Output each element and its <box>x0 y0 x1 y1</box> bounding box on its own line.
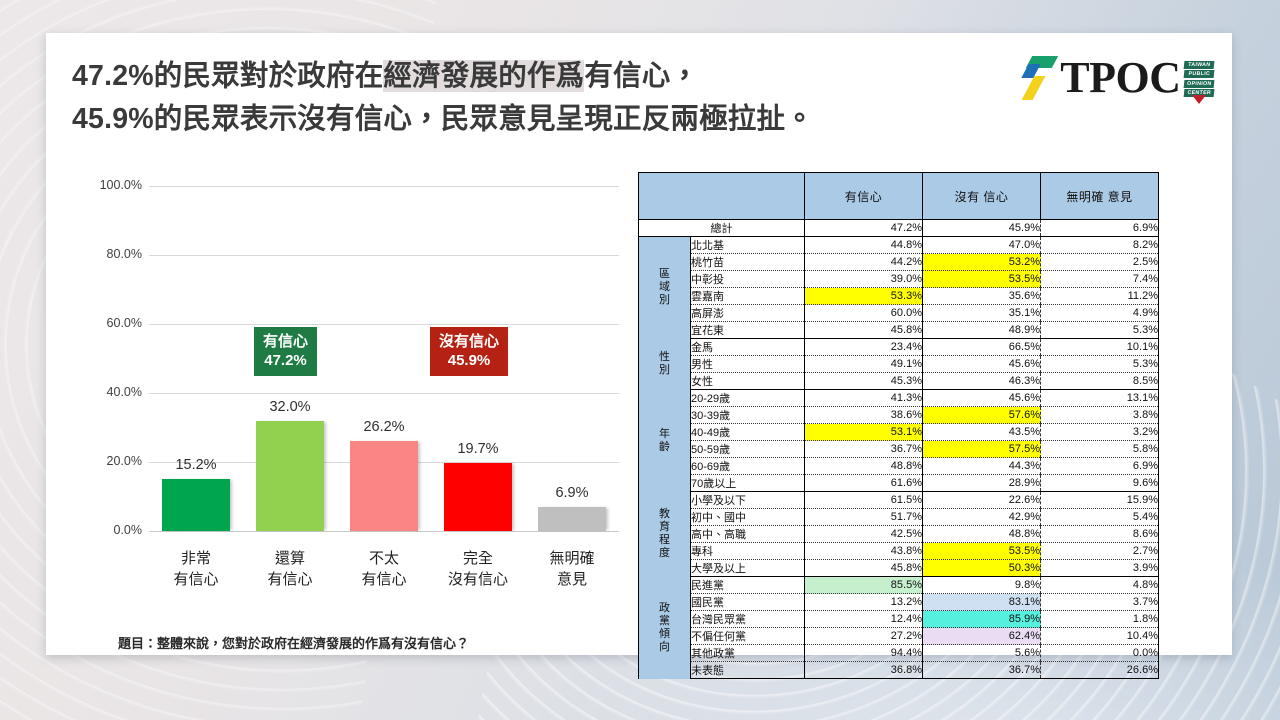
cell-value: 45.6% <box>923 356 1041 373</box>
cell-value: 46.3% <box>923 373 1041 390</box>
y-tick-label: 80.0% <box>62 247 142 261</box>
row-label: 高屏澎 <box>691 305 805 322</box>
y-tick-label: 60.0% <box>62 316 142 330</box>
cell-value: 11.2% <box>1041 288 1159 305</box>
cell-value: 49.1% <box>805 356 923 373</box>
table-row: 教育程度小學及以下61.5%22.6%15.9% <box>639 492 1159 509</box>
table-row: 其他政黨94.4%5.6%0.0% <box>639 645 1159 662</box>
cell-value: 38.6% <box>805 407 923 424</box>
cell-value: 66.5% <box>923 339 1041 356</box>
bar-column[interactable]: 26.2% <box>337 186 431 531</box>
group-label-政黨傾向: 政黨傾向 <box>639 577 691 679</box>
cell-total-1: 47.2% <box>805 220 923 237</box>
cell-value: 57.6% <box>923 407 1041 424</box>
table-header-not-confident: 沒有 信心 <box>923 173 1041 220</box>
cell-value: 53.5% <box>923 543 1041 560</box>
table-row: 專科43.8%53.5%2.7% <box>639 543 1159 560</box>
cell-value: 8.6% <box>1041 526 1159 543</box>
slide-card: 47.2%的民眾對於政府在經濟發展的作爲有信心， 45.9%的民眾表示沒有信心，… <box>46 33 1232 655</box>
cell-value: 43.5% <box>923 424 1041 441</box>
cell-value: 51.7% <box>805 509 923 526</box>
row-label: 初中、國中 <box>691 509 805 526</box>
bar-chart: 0.0%20.0%40.0%60.0%80.0%100.0% 15.2%32.0… <box>64 173 644 593</box>
cell-value: 10.1% <box>1041 339 1159 356</box>
logo-badge: TAIWAN PUBLIC OPINION CENTER <box>1184 61 1214 98</box>
cell-value: 62.4% <box>923 628 1041 645</box>
cell-value: 26.6% <box>1041 662 1159 679</box>
bar-4[interactable] <box>444 463 512 531</box>
cell-value: 5.4% <box>1041 509 1159 526</box>
table-row: 雲嘉南53.3%35.6%11.2% <box>639 288 1159 305</box>
row-label: 高中、高職 <box>691 526 805 543</box>
headline-line1-pre: 47.2%的民眾對於政府在 <box>72 60 383 92</box>
cell-value: 9.8% <box>923 577 1041 594</box>
bar-value-label: 19.7% <box>431 441 525 457</box>
cell-value: 61.6% <box>805 475 923 492</box>
table-row: 政黨傾向民進黨85.5%9.8%4.8% <box>639 577 1159 594</box>
logo-wordmark: TPOC <box>1060 55 1180 101</box>
group-label-性別: 性別 <box>639 339 691 390</box>
table-row: 桃竹苗44.2%53.2%2.5% <box>639 254 1159 271</box>
group-label-教育程度: 教育程度 <box>639 492 691 577</box>
bar-value-label: 6.9% <box>525 485 619 501</box>
row-label: 30-39歲 <box>691 407 805 424</box>
table-row: 性別金馬23.4%66.5%10.1% <box>639 339 1159 356</box>
cell-value: 53.5% <box>923 271 1041 288</box>
x-axis-label: 還算有信心 <box>243 548 337 590</box>
cell-value: 53.2% <box>923 254 1041 271</box>
x-axis-label: 無明確意見 <box>525 548 619 590</box>
cell-value: 50.3% <box>923 560 1041 577</box>
cell-total-2: 45.9% <box>923 220 1041 237</box>
row-label: 60-69歲 <box>691 458 805 475</box>
cell-value: 41.3% <box>805 390 923 407</box>
crosstab-table: 有信心 沒有 信心 無明確 意見 總計47.2%45.9%6.9%區域別北北基4… <box>638 172 1159 679</box>
table-row: 區域別北北基44.8%47.0%8.2% <box>639 237 1159 254</box>
row-label: 70歲以上 <box>691 475 805 492</box>
cell-value: 8.5% <box>1041 373 1159 390</box>
gridline-0 <box>149 531 619 532</box>
table-header-no-opinion: 無明確 意見 <box>1041 173 1159 220</box>
cell-value: 35.6% <box>923 288 1041 305</box>
row-label: 20-29歲 <box>691 390 805 407</box>
cell-value: 85.9% <box>923 611 1041 628</box>
group-label-年齡: 年齡 <box>639 390 691 492</box>
callout-not-confident-title: 沒有信心 <box>439 332 499 351</box>
cell-value: 60.0% <box>805 305 923 322</box>
cell-value: 12.4% <box>805 611 923 628</box>
row-label: 民進黨 <box>691 577 805 594</box>
bar-value-label: 32.0% <box>243 399 337 415</box>
question-text: 題目：整體來說，您對於政府在經濟發展的作爲有沒有信心？ <box>118 633 469 652</box>
cell-value: 45.3% <box>805 373 923 390</box>
cell-value: 3.7% <box>1041 594 1159 611</box>
row-label: 國民黨 <box>691 594 805 611</box>
cell-value: 48.8% <box>805 458 923 475</box>
bar-value-label: 26.2% <box>337 419 431 435</box>
table-row: 40-49歲53.1%43.5%3.2% <box>639 424 1159 441</box>
cell-value: 61.5% <box>805 492 923 509</box>
logo-badge-pointer-icon <box>1192 95 1206 104</box>
cell-value: 28.9% <box>923 475 1041 492</box>
table-row: 中彰投39.0%53.5%7.4% <box>639 271 1159 288</box>
table-row: 女性45.3%46.3%8.5% <box>639 373 1159 390</box>
table-row: 大學及以上45.8%50.3%3.9% <box>639 560 1159 577</box>
row-label: 其他政黨 <box>691 645 805 662</box>
x-axis-label: 完全沒有信心 <box>431 548 525 590</box>
cell-value: 83.1% <box>923 594 1041 611</box>
cell-value: 5.3% <box>1041 356 1159 373</box>
table-row: 60-69歲48.8%44.3%6.9% <box>639 458 1159 475</box>
headline-line1-post: 有信心， <box>584 60 699 92</box>
cell-value: 5.6% <box>923 645 1041 662</box>
cell-value: 13.1% <box>1041 390 1159 407</box>
cell-value: 45.8% <box>805 322 923 339</box>
slide-background: 47.2%的民眾對於政府在經濟發展的作爲有信心， 45.9%的民眾表示沒有信心，… <box>0 0 1280 720</box>
row-label: 中彰投 <box>691 271 805 288</box>
cell-value: 5.3% <box>1041 322 1159 339</box>
cell-value: 0.0% <box>1041 645 1159 662</box>
table-row: 男性49.1%45.6%5.3% <box>639 356 1159 373</box>
row-label: 男性 <box>691 356 805 373</box>
y-tick-label: 20.0% <box>62 454 142 468</box>
bar-column[interactable]: 15.2% <box>149 186 243 531</box>
y-tick-label: 40.0% <box>62 385 142 399</box>
callout-confident-value: 47.2% <box>263 351 308 370</box>
row-label: 女性 <box>691 373 805 390</box>
callout-confident-title: 有信心 <box>263 332 308 351</box>
row-label: 大學及以上 <box>691 560 805 577</box>
bar-value-label: 15.2% <box>149 457 243 473</box>
cell-value: 23.4% <box>805 339 923 356</box>
row-label: 小學及以下 <box>691 492 805 509</box>
cell-value: 53.3% <box>805 288 923 305</box>
table-row: 未表態36.8%36.7%26.6% <box>639 662 1159 679</box>
cell-value: 94.4% <box>805 645 923 662</box>
cell-value: 39.0% <box>805 271 923 288</box>
cell-value: 47.0% <box>923 237 1041 254</box>
row-label: 台灣民眾黨 <box>691 611 805 628</box>
x-axis-label: 非常有信心 <box>149 548 243 590</box>
cell-value: 4.8% <box>1041 577 1159 594</box>
table-row: 高中、高職42.5%48.8%8.6% <box>639 526 1159 543</box>
group-label-區域別: 區域別 <box>639 237 691 339</box>
row-label: 不偏任何黨 <box>691 628 805 645</box>
cell-value: 7.4% <box>1041 271 1159 288</box>
cell-value: 53.1% <box>805 424 923 441</box>
row-label: 未表態 <box>691 662 805 679</box>
cell-value: 22.6% <box>923 492 1041 509</box>
logo-badge-line-3: OPINION <box>1183 80 1214 88</box>
headline-line-2: 45.9%的民眾表示沒有信心，民眾意見呈現正反兩極拉扯。 <box>72 98 1062 141</box>
x-axis-label: 不太有信心 <box>337 548 431 590</box>
cell-value: 45.6% <box>923 390 1041 407</box>
row-label: 桃竹苗 <box>691 254 805 271</box>
callout-not-confident-value: 45.9% <box>439 351 499 370</box>
cell-value: 3.9% <box>1041 560 1159 577</box>
cell-value: 43.8% <box>805 543 923 560</box>
table-header: 有信心 沒有 信心 無明確 意見 <box>639 173 1159 220</box>
bar-column[interactable]: 6.9% <box>525 186 619 531</box>
cell-value: 9.6% <box>1041 475 1159 492</box>
row-label: 專科 <box>691 543 805 560</box>
table-row: 30-39歲38.6%57.6%3.8% <box>639 407 1159 424</box>
cell-value: 35.1% <box>923 305 1041 322</box>
cell-value: 44.3% <box>923 458 1041 475</box>
row-label: 宜花東 <box>691 322 805 339</box>
table-row: 宜花東45.8%48.9%5.3% <box>639 322 1159 339</box>
cell-value: 6.9% <box>1041 458 1159 475</box>
bar-3[interactable] <box>350 441 418 531</box>
cell-value: 3.8% <box>1041 407 1159 424</box>
cell-value: 13.2% <box>805 594 923 611</box>
y-tick-label: 100.0% <box>62 178 142 192</box>
cell-value: 3.2% <box>1041 424 1159 441</box>
cell-value: 42.9% <box>923 509 1041 526</box>
chart-bars: 15.2%32.0%26.2%19.7%6.9% <box>149 186 619 531</box>
bar-5[interactable] <box>538 507 606 531</box>
cell-value: 2.5% <box>1041 254 1159 271</box>
cell-value: 48.9% <box>923 322 1041 339</box>
cell-value: 1.8% <box>1041 611 1159 628</box>
cell-value: 57.5% <box>923 441 1041 458</box>
cell-value: 44.8% <box>805 237 923 254</box>
tpoc-logo: TPOC TAIWAN PUBLIC OPINION CENTER <box>1024 51 1214 105</box>
logo-badge-line-2: PUBLIC <box>1183 70 1214 78</box>
table-row: 70歲以上61.6%28.9%9.6% <box>639 475 1159 492</box>
headline-line-1: 47.2%的民眾對於政府在經濟發展的作爲有信心， <box>72 55 1062 98</box>
bar-2[interactable] <box>256 421 324 531</box>
cell-value: 5.8% <box>1041 441 1159 458</box>
table-row: 國民黨13.2%83.1%3.7% <box>639 594 1159 611</box>
page-title: 47.2%的民眾對於政府在經濟發展的作爲有信心， 45.9%的民眾表示沒有信心，… <box>72 55 1062 141</box>
bar-1[interactable] <box>162 479 230 531</box>
y-tick-label: 0.0% <box>62 523 142 537</box>
table-row-total: 總計47.2%45.9%6.9% <box>639 220 1159 237</box>
cell-value: 8.2% <box>1041 237 1159 254</box>
row-label-total: 總計 <box>639 220 805 237</box>
callout-confident: 有信心47.2% <box>254 327 317 376</box>
chart-plot-area: 15.2%32.0%26.2%19.7%6.9% 非常有信心還算有信心不太有信心… <box>149 186 619 531</box>
row-label: 雲嘉南 <box>691 288 805 305</box>
cell-value: 4.9% <box>1041 305 1159 322</box>
cell-value: 48.8% <box>923 526 1041 543</box>
callout-not-confident: 沒有信心45.9% <box>430 327 508 376</box>
row-label: 50-59歲 <box>691 441 805 458</box>
table-header-corner <box>639 173 805 220</box>
table-row: 不偏任何黨27.2%62.4%10.4% <box>639 628 1159 645</box>
cell-value: 42.5% <box>805 526 923 543</box>
table-row: 年齡20-29歲41.3%45.6%13.1% <box>639 390 1159 407</box>
table-row: 台灣民眾黨12.4%85.9%1.8% <box>639 611 1159 628</box>
crosstab-table-wrapper: 有信心 沒有 信心 無明確 意見 總計47.2%45.9%6.9%區域別北北基4… <box>638 172 1158 679</box>
row-label: 40-49歲 <box>691 424 805 441</box>
table-row: 高屏澎60.0%35.1%4.9% <box>639 305 1159 322</box>
table-header-confident: 有信心 <box>805 173 923 220</box>
cell-value: 36.7% <box>923 662 1041 679</box>
cell-value: 27.2% <box>805 628 923 645</box>
cell-value: 2.7% <box>1041 543 1159 560</box>
tpoc-mark-icon <box>1024 55 1058 101</box>
cell-value: 36.8% <box>805 662 923 679</box>
row-label: 金馬 <box>691 339 805 356</box>
table-row: 50-59歲36.7%57.5%5.8% <box>639 441 1159 458</box>
cell-value: 85.5% <box>805 577 923 594</box>
cell-value: 15.9% <box>1041 492 1159 509</box>
table-body: 總計47.2%45.9%6.9%區域別北北基44.8%47.0%8.2%桃竹苗4… <box>639 220 1159 679</box>
cell-value: 45.8% <box>805 560 923 577</box>
cell-total-3: 6.9% <box>1041 220 1159 237</box>
logo-badge-line-1: TAIWAN <box>1183 61 1214 69</box>
table-row: 初中、國中51.7%42.9%5.4% <box>639 509 1159 526</box>
cell-value: 44.2% <box>805 254 923 271</box>
headline-highlight: 經濟發展的作爲 <box>383 60 584 92</box>
cell-value: 10.4% <box>1041 628 1159 645</box>
row-label: 北北基 <box>691 237 805 254</box>
cell-value: 36.7% <box>805 441 923 458</box>
y-axis-ticks: 0.0%20.0%40.0%60.0%80.0%100.0% <box>64 186 142 531</box>
